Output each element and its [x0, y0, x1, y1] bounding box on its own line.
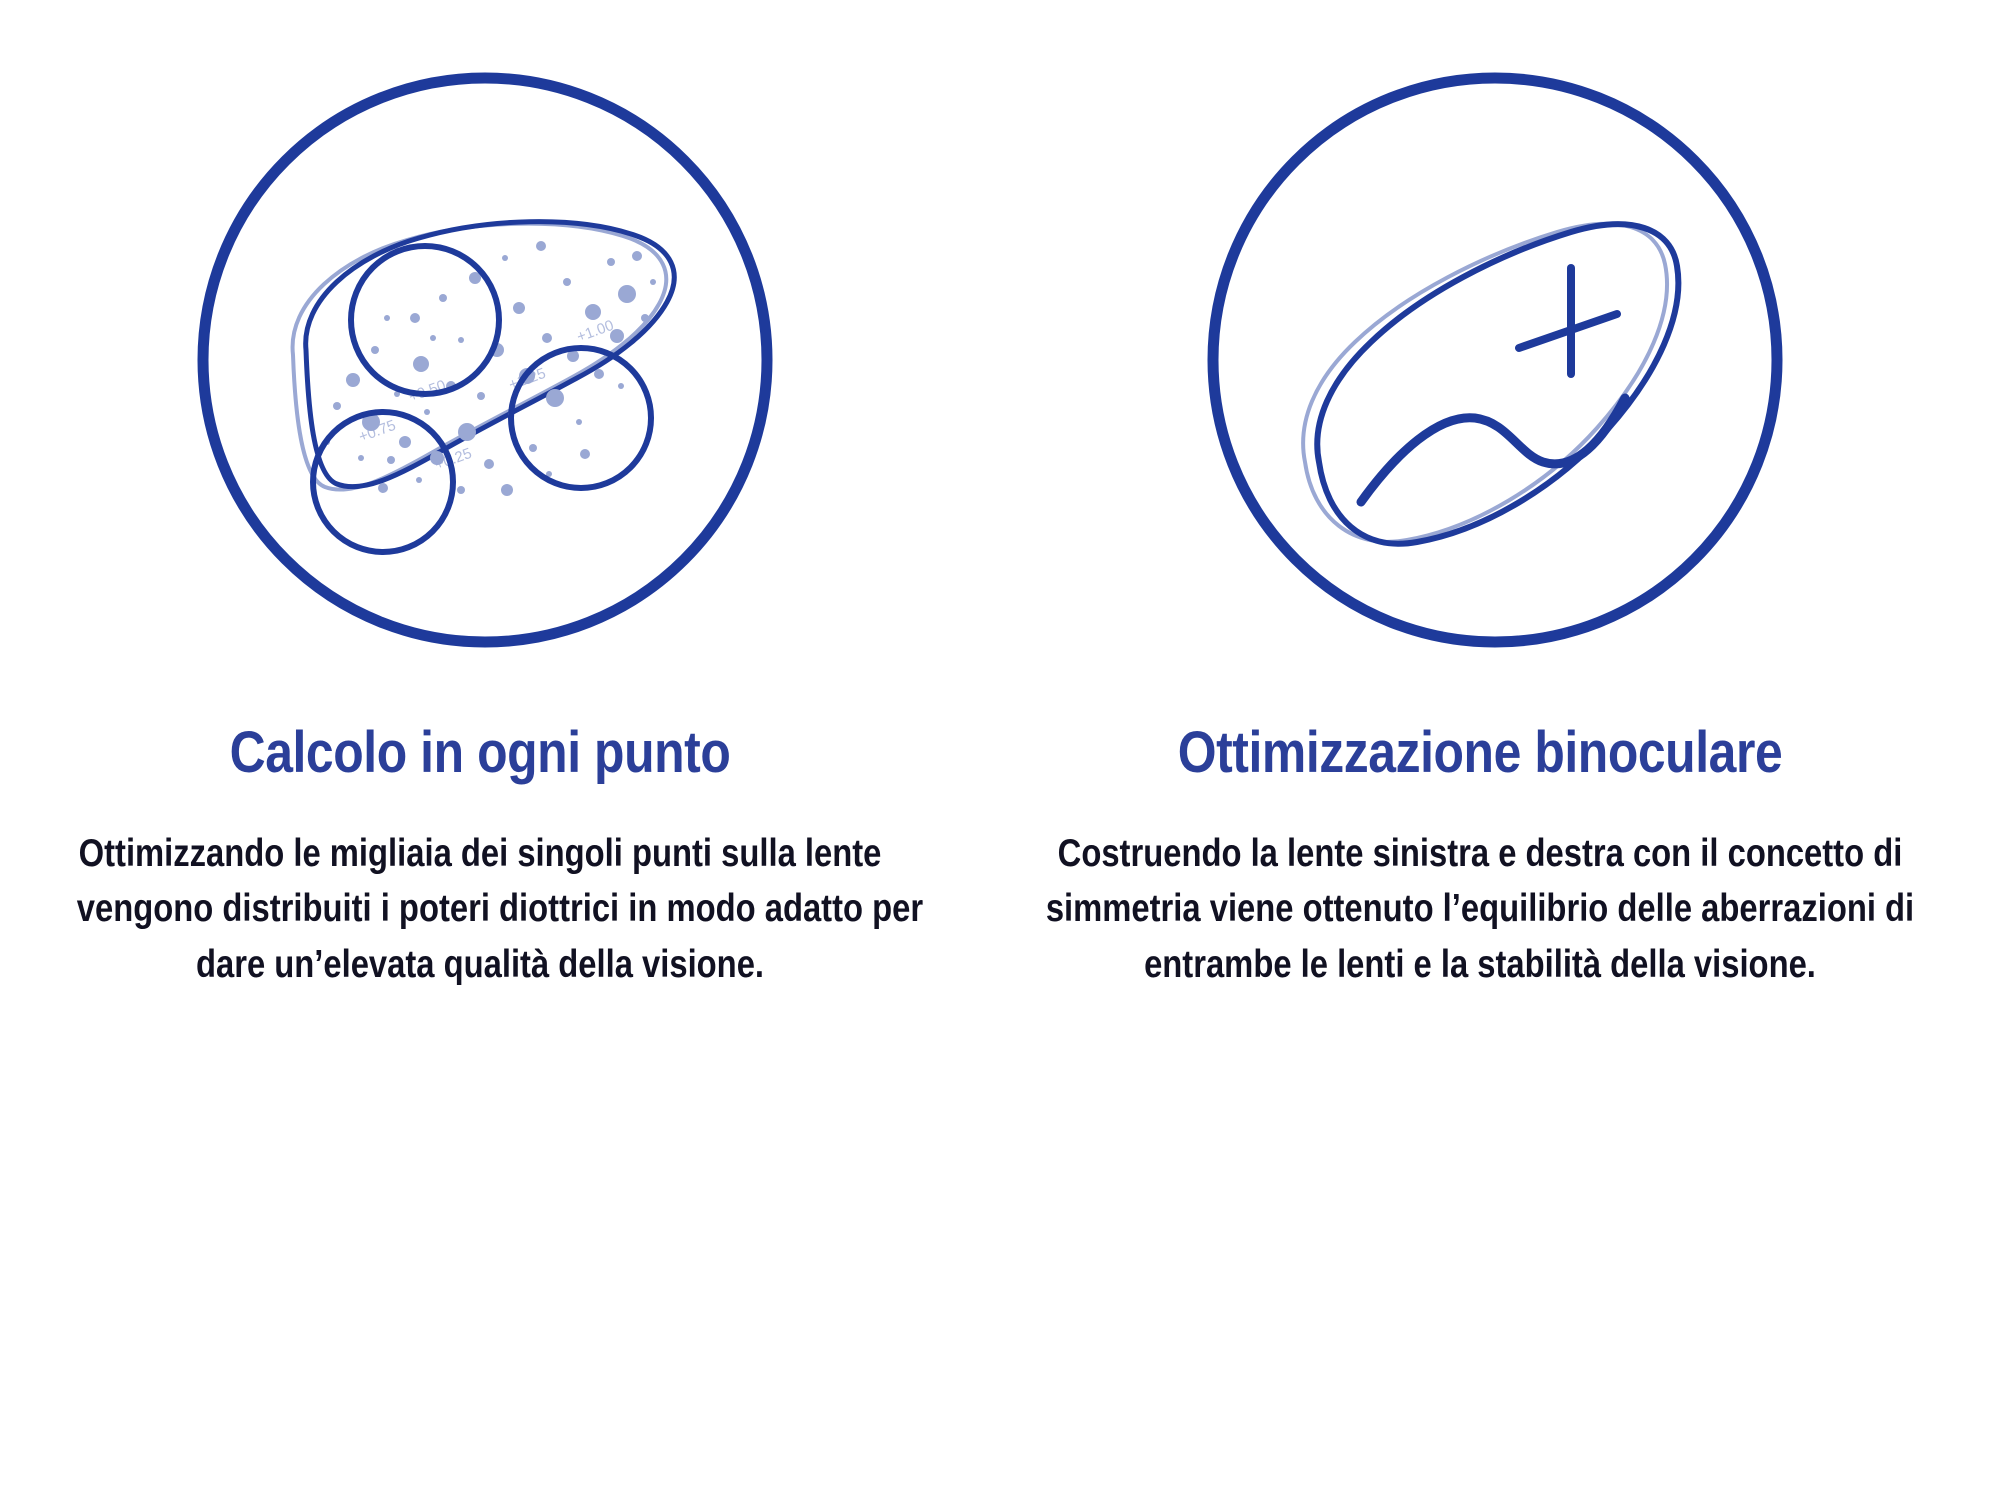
lens-outline-main [1317, 224, 1678, 544]
outer-circle-ring [1213, 78, 1777, 642]
description-line: Costruendo la lente sinistra e destra co… [1043, 826, 1917, 881]
icon-container-left: +0.50 +0.75 +1.00 +1.25 +0.25 [0, 0, 960, 720]
page-title-ottimizzazione: Ottimizzazione binoculare [1033, 724, 1927, 782]
description-line: simmetria viene ottenuto l’equilibrio de… [1043, 881, 1917, 936]
description-line: Ottimizzando le migliaia dei singoli pun… [77, 826, 883, 881]
description-ottimizzazione: Costruendo la lente sinistra e destra co… [1043, 826, 1917, 992]
description-calcolo: Ottimizzando le migliaia dei singoli pun… [77, 826, 883, 992]
feature-panel-ottimizzazione: Ottimizzazione binoculare Costruendo la … [960, 0, 2000, 992]
description-line: entrambe le lenti e la stabilità della v… [1043, 937, 1917, 992]
lens-point-by-point-calculation-icon: +0.50 +0.75 +1.00 +1.25 +0.25 [175, 50, 795, 670]
plus-sign-icon [1519, 268, 1617, 374]
icon-container-right [960, 0, 2000, 720]
page-root: +0.50 +0.75 +1.00 +1.25 +0.25 Calcolo in… [0, 0, 2000, 1500]
binocular-optimization-lens-icon [1185, 50, 1805, 670]
description-line: vengono distribuiti i poteri diottrici i… [77, 881, 883, 936]
feature-columns: +0.50 +0.75 +1.00 +1.25 +0.25 Calcolo in… [0, 0, 2000, 1500]
lens-outline-ghost [1303, 224, 1667, 542]
symmetry-wave-curve [1361, 398, 1625, 502]
page-title-calcolo: Calcolo in ogni punto [67, 724, 893, 782]
description-line: dare un’elevata qualità della visione. [77, 937, 883, 992]
feature-panel-calcolo: +0.50 +0.75 +1.00 +1.25 +0.25 Calcolo in… [0, 0, 960, 992]
